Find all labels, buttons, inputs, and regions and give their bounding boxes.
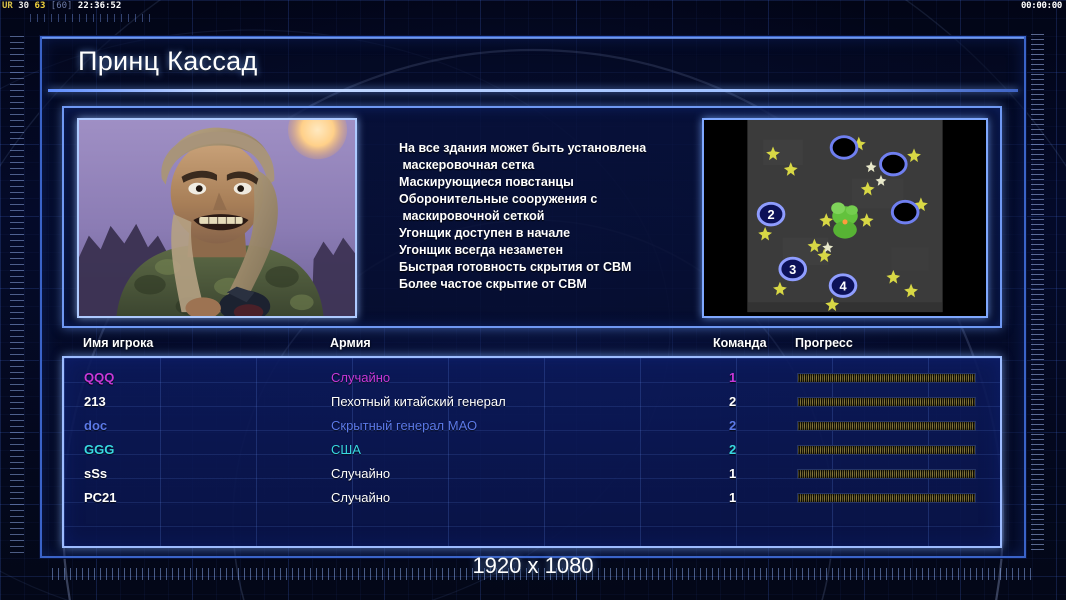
perf-label: UR [2,1,13,11]
map-preview: 2 3 4 [702,118,988,318]
description-line: Угонщик всегда незаметен [399,242,699,259]
player-progress-fill [798,494,975,502]
player-army: Случайно [331,486,390,510]
system-clock: 22:36:52 [78,1,121,11]
player-progress-bar [797,373,976,383]
title-bar: Принц Кассад [48,42,1018,92]
top-status-bar: UR 30 63 [60] 22:36:52 00:00:00 [0,0,1066,13]
player-progress-bar [797,469,976,479]
player-table-header: Имя игрока Армия Команда Прогресс [62,336,1002,358]
player-progress-bar [797,397,976,407]
description-line: Оборонительные сооружения с [399,191,699,208]
general-info-panel: На все здания может быть установлена мас… [62,106,1002,328]
player-progress-bar [797,493,976,503]
description-line: маскеровочная сетка [399,157,699,174]
match-timer: 00:00:00 [1021,0,1062,13]
frame-top-highlight [42,37,1024,39]
player-name: GGG [84,438,114,462]
player-army: Пехотный китайский генерал [331,390,506,414]
player-progress-fill [798,470,975,478]
resolution-label: 1920 x 1080 [0,553,1066,579]
minimap-center-cluster [831,202,858,238]
perf-value-2: 63 [35,1,46,11]
performance-indicator: UR 30 63 [60] 22:36:52 [2,0,121,13]
player-army: США [331,438,361,462]
ruler-ticks-top [30,14,150,22]
column-header-progress: Прогресс [795,336,853,350]
column-header-team: Команда [713,336,767,350]
player-name: 213 [84,390,106,414]
description-line: маскировочной сеткой [399,208,699,225]
player-progress-bar [797,445,976,455]
player-army: Случайно [331,366,390,390]
table-row[interactable]: docСкрытный генерал МАО2 [64,414,1000,438]
table-row[interactable]: GGGСША2 [64,438,1000,462]
svg-text:4: 4 [839,279,847,294]
table-row[interactable]: 213Пехотный китайский генерал2 [64,390,1000,414]
description-line: Маскирующиеся повстанцы [399,174,699,191]
table-row[interactable]: sSsСлучайно1 [64,462,1000,486]
player-name: sSs [84,462,107,486]
player-team: 1 [729,462,736,486]
player-team: 1 [729,366,736,390]
player-army: Случайно [331,462,390,486]
player-army: Скрытный генерал МАО [331,414,477,438]
player-team: 2 [729,414,736,438]
table-row[interactable]: QQQСлучайно1 [64,366,1000,390]
title-underline [48,89,1018,92]
player-team: 2 [729,438,736,462]
player-progress-fill [798,374,975,382]
player-name: doc [84,414,107,438]
table-row[interactable]: PC21Случайно1 [64,486,1000,510]
column-header-army: Армия [330,336,371,350]
game-lobby-screen: UR 30 63 [60] 22:36:52 00:00:00 Принц Ка… [0,0,1066,600]
ruler-ticks-right [1031,34,1044,554]
description-line: Более частое скрытие от СВМ [399,276,699,293]
player-name: QQQ [84,366,114,390]
player-name: PC21 [84,486,117,510]
portrait-artwork [79,120,355,316]
player-progress-bar [797,421,976,431]
minimap-artwork: 2 3 4 [704,120,986,316]
perf-value-1: 30 [18,1,29,11]
description-line: На все здания может быть установлена [399,140,699,157]
general-portrait [77,118,357,318]
svg-text:2: 2 [767,207,774,222]
player-progress-fill [798,422,975,430]
page-title: Принц Кассад [78,46,258,77]
description-line: Быстрая готовность скрытия от СВМ [399,259,699,276]
player-progress-fill [798,398,975,406]
column-header-name: Имя игрока [83,336,153,350]
player-team: 1 [729,486,736,510]
perf-value-3: [60] [51,1,73,11]
ruler-ticks-left [10,36,24,556]
svg-text:3: 3 [789,262,796,277]
description-line: Угонщик доступен в начале [399,225,699,242]
general-description: На все здания может быть установлена мас… [399,140,699,293]
player-list-panel: QQQСлучайно1213Пехотный китайский генера… [62,356,1002,548]
player-progress-fill [798,446,975,454]
player-team: 2 [729,390,736,414]
